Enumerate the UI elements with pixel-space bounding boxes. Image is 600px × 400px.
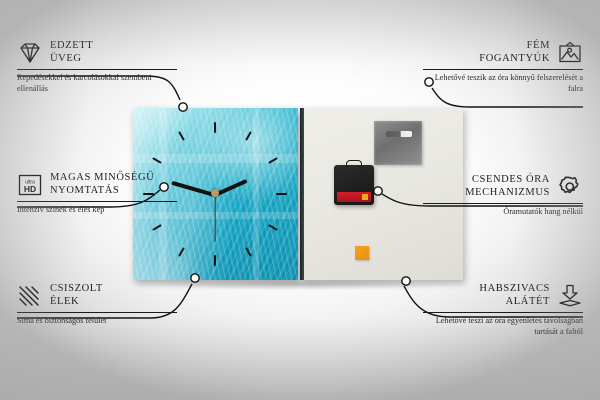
mechanism-loop — [346, 160, 362, 167]
diamond-icon — [17, 41, 43, 65]
metal-hanger-plate — [374, 121, 422, 165]
hanger-slot — [386, 131, 412, 137]
feature-title: HABSZIVACS ALÁTÉT — [479, 283, 550, 308]
gear-icon — [557, 175, 583, 199]
divider — [423, 312, 583, 313]
divider — [17, 201, 177, 202]
picture-hanger-icon — [557, 41, 583, 65]
feature-description: Repedésekkel és karcolásokkal szembeni e… — [17, 73, 177, 94]
divider — [423, 203, 583, 204]
feature-header: HABSZIVACS ALÁTÉT — [423, 283, 583, 308]
feature-polished-edges: CSISZOLT ÉLEK Sima és biztonságos felüle… — [17, 283, 177, 327]
clock-tick — [214, 122, 216, 133]
feature-title: CSISZOLT ÉLEK — [50, 283, 103, 308]
feature-title: EDZETT ÜVEG — [50, 40, 93, 65]
clock-tick — [276, 193, 287, 195]
hd-label: HD — [24, 184, 36, 194]
feature-description: Óramutatók hang nélkül — [423, 207, 583, 218]
feature-foam-pad: HABSZIVACS ALÁTÉT Lehetővé teszi az óra … — [423, 283, 583, 337]
feature-description: Lehetővé teszik az óra könnyű felszerelé… — [423, 73, 583, 94]
feature-high-quality-print: ultra HD MAGAS MINŐSÉGŰ NYOMTATÁS Intenz… — [17, 172, 177, 216]
feature-description: Sima és biztonságos felület — [17, 316, 177, 327]
feature-description: Lehetővé teszi az óra egyenletes távolsá… — [423, 316, 583, 337]
foam-pad-arrow-icon — [557, 284, 583, 308]
feature-header: EDZETT ÜVEG — [17, 40, 177, 65]
polished-edges-icon — [17, 284, 43, 308]
feature-title: FÉM FOGANTYÚK — [479, 40, 550, 65]
feature-metal-hangers: FÉM FOGANTYÚK Lehetővé teszik az óra kön… — [423, 40, 583, 94]
divider — [423, 69, 583, 70]
feature-header: CSENDES ÓRA MECHANIZMUS — [423, 174, 583, 199]
clock-center-pivot — [211, 189, 219, 197]
divider — [17, 69, 177, 70]
feature-title: CSENDES ÓRA MECHANIZMUS — [465, 174, 550, 199]
feature-header: CSISZOLT ÉLEK — [17, 283, 177, 308]
feature-header: FÉM FOGANTYÚK — [423, 40, 583, 65]
clock-mechanism — [334, 165, 374, 205]
battery — [337, 192, 371, 202]
ultra-hd-icon: ultra HD — [17, 173, 43, 197]
feature-description: Intenzív színek és éles kép — [17, 205, 177, 216]
product-image — [133, 108, 463, 280]
feature-tempered-glass: EDZETT ÜVEG Repedésekkel és karcolásokka… — [17, 40, 177, 94]
divider — [17, 312, 177, 313]
feature-title: MAGAS MINŐSÉGŰ NYOMTATÁS — [50, 172, 154, 197]
foam-pad — [355, 246, 369, 260]
feature-header: ultra HD MAGAS MINŐSÉGŰ NYOMTATÁS — [17, 172, 177, 197]
glass-edge — [300, 108, 304, 280]
clock-tick — [214, 255, 216, 266]
feature-quiet-mechanism: CSENDES ÓRA MECHANIZMUS Óramutatók hang … — [423, 174, 583, 218]
clock-second-hand — [214, 194, 215, 242]
infographic-canvas: EDZETT ÜVEG Repedésekkel és karcolásokka… — [0, 0, 600, 400]
